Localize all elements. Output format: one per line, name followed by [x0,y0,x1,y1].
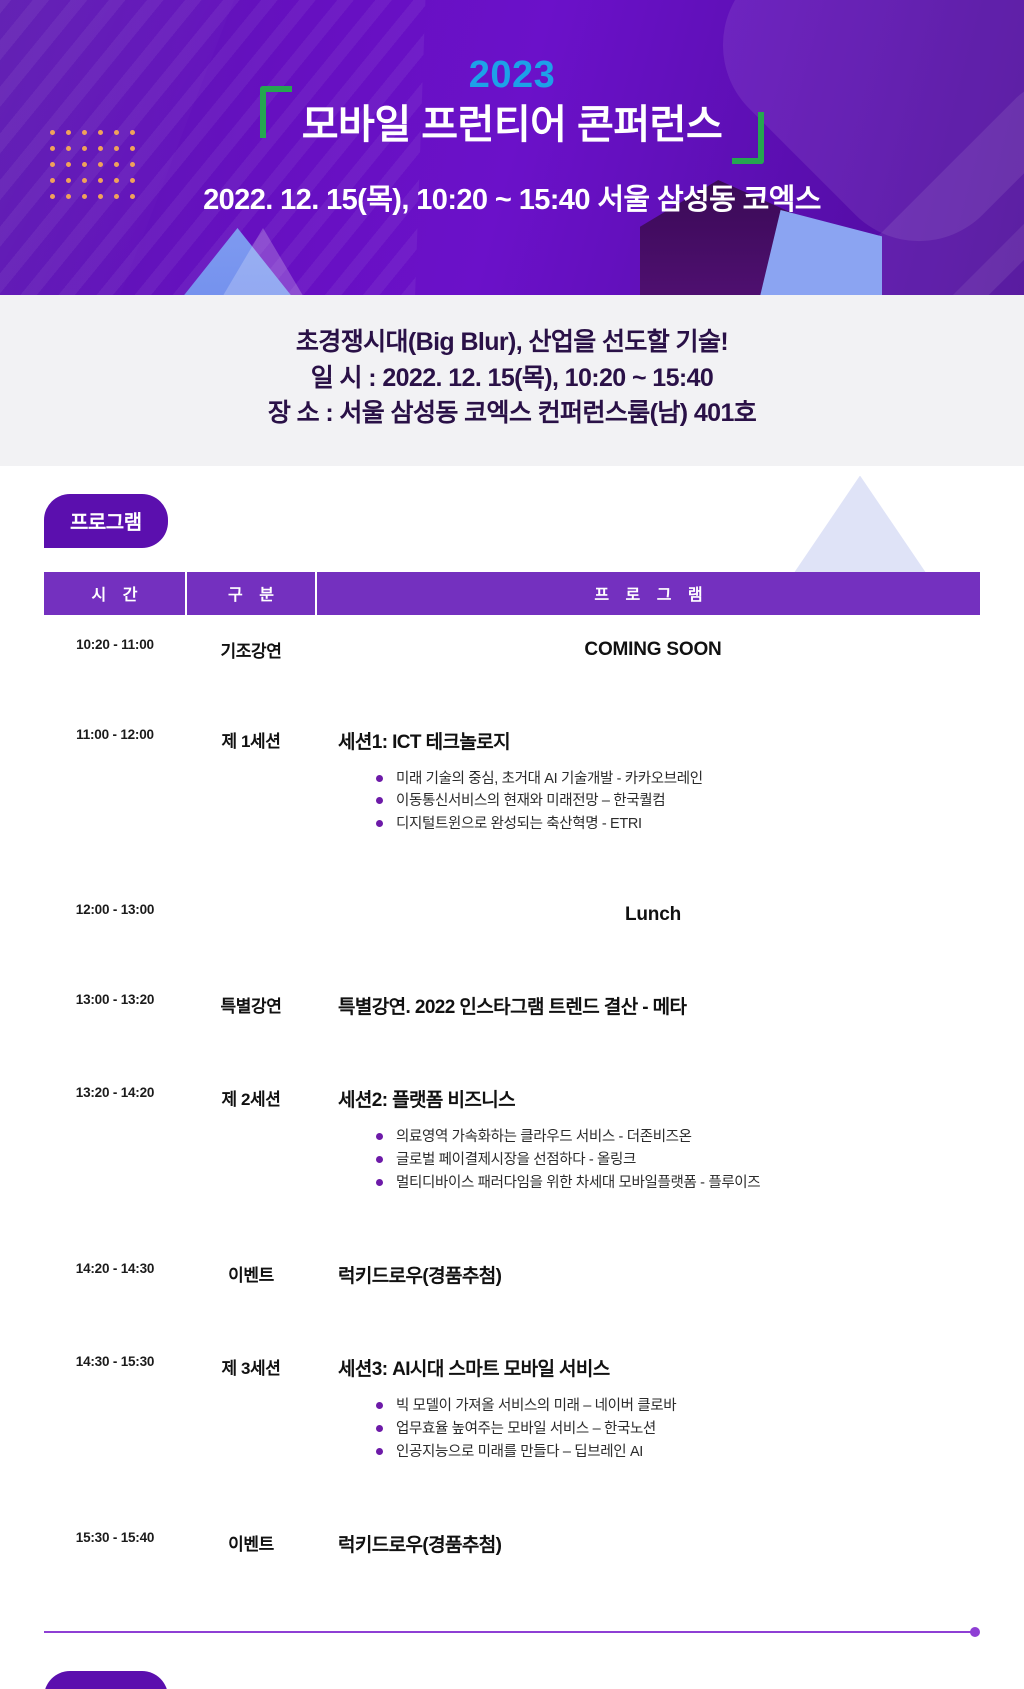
row-program-cell: 세션1: ICT 테크놀로지미래 기술의 중심, 초거대 AI 기술개발 - 카… [316,705,980,841]
register-badge: 사전등록 [44,1671,168,1689]
row-type [186,880,316,930]
bracket-left-icon [260,86,292,138]
row-program-cell: 세션3: AI시대 스마트 모바일 서비스빅 모델이 가져올 서비스의 미래 –… [316,1332,980,1468]
table-row: 14:30 - 15:30제 3세션세션3: AI시대 스마트 모바일 서비스빅… [44,1332,980,1468]
row-program-title: 특별강연. 2022 인스타그램 트렌드 결산 - 메타 [330,992,976,1019]
row-program-title: Lunch [330,902,976,926]
table-row: 10:20 - 11:00기조강연COMING SOON [44,615,980,665]
schedule-table-head: 시 간 구 분 프 로 그 램 [44,572,980,615]
row-spacer [44,1292,980,1332]
row-spacer [44,1561,980,1601]
schedule-header-row: 시 간 구 분 프 로 그 램 [44,572,980,615]
row-type: 이벤트 [186,1508,316,1561]
list-item: 인공지능으로 미래를 만들다 – 딥브레인 AI [376,1441,976,1464]
row-time: 12:00 - 13:00 [44,880,186,930]
row-program-title: 세션2: 플랫폼 비즈니스 [330,1085,976,1112]
list-item: 의료영역 가속화하는 클라우드 서비스 - 더존비즈온 [376,1126,976,1149]
row-time: 13:20 - 14:20 [44,1063,186,1199]
row-program-cell: COMING SOON [316,615,980,665]
row-time: 15:30 - 15:40 [44,1508,186,1561]
row-type: 기조강연 [186,615,316,665]
hero-title: 모바일 프런티어 콘퍼런스 [302,100,723,150]
schedule-table: 시 간 구 분 프 로 그 램 10:20 - 11:00기조강연COMING … [44,572,980,1601]
row-program-cell: 세션2: 플랫폼 비즈니스의료영역 가속화하는 클라우드 서비스 - 더존비즈온… [316,1063,980,1199]
divider-endpoint-dot [970,1627,980,1637]
row-spacer [44,840,980,880]
row-time: 14:20 - 14:30 [44,1239,186,1292]
table-row: 14:20 - 14:30이벤트럭키드로우(경품추첨) [44,1239,980,1292]
row-type: 제 2세션 [186,1063,316,1199]
row-type: 이벤트 [186,1239,316,1292]
row-spacer [44,930,980,970]
event-info-band: 초경쟁시대(Big Blur), 산업을 선도할 기술! 일 시 : 2022.… [0,295,1024,466]
row-type: 특별강연 [186,970,316,1023]
row-program-cell: 특별강연. 2022 인스타그램 트렌드 결산 - 메타 [316,970,980,1023]
program-badge: 프로그램 [44,494,168,548]
row-type: 제 1세션 [186,705,316,841]
conference-poster: 2023 모바일 프런티어 콘퍼런스 2022. 12. 15(목), 10:2… [0,0,1024,1689]
row-program-title: 럭키드로우(경품추첨) [330,1261,976,1288]
hero-banner: 2023 모바일 프런티어 콘퍼런스 2022. 12. 15(목), 10:2… [0,0,1024,295]
program-badge-row: 프로그램 [44,494,980,548]
schedule-table-body: 10:20 - 11:00기조강연COMING SOON11:00 - 12:0… [44,615,980,1601]
table-row: 12:00 - 13:00Lunch [44,880,980,930]
table-row: 11:00 - 12:00제 1세션세션1: ICT 테크놀로지미래 기술의 중… [44,705,980,841]
row-time: 13:00 - 13:20 [44,970,186,1023]
list-item: 글로벌 페이결제시장을 선점하다 - 올링크 [376,1149,976,1172]
info-line-3: 장 소 : 서울 삼성동 코엑스 컨퍼런스룸(남) 401호 [0,396,1024,432]
row-program-cell: Lunch [316,880,980,930]
column-header-time: 시 간 [44,572,186,615]
table-row: 13:00 - 13:20특별강연특별강연. 2022 인스타그램 트렌드 결산… [44,970,980,1023]
row-program-title: 세션3: AI시대 스마트 모바일 서비스 [330,1354,976,1381]
list-item: 디지털트윈으로 완성되는 축산혁명 - ETRI [376,813,976,836]
row-type: 제 3세션 [186,1332,316,1468]
row-program-cell: 럭키드로우(경품추첨) [316,1508,980,1561]
row-program-title: 럭키드로우(경품추첨) [330,1530,976,1557]
register-badge-row: 사전등록 [44,1671,980,1689]
list-item: 업무효율 높여주는 모바일 서비스 – 한국노션 [376,1418,976,1441]
register-section: 사전등록 [0,1637,1024,1689]
hero-title-wrap: 모바일 프런티어 콘퍼런스 [256,100,769,150]
list-item: 이동통신서비스의 현재와 미래전망 – 한국퀄컴 [376,790,976,813]
program-divider [44,1627,980,1637]
program-section: 프로그램 시 간 구 분 프 로 그 램 10:20 - 11:00기조강연CO… [0,466,1024,1601]
column-header-type: 구 분 [186,572,316,615]
table-row: 13:20 - 14:20제 2세션세션2: 플랫폼 비즈니스의료영역 가속화하… [44,1063,980,1199]
row-program-title: 세션1: ICT 테크놀로지 [330,727,976,754]
list-item: 미래 기술의 중심, 초거대 AI 기술개발 - 카카오브레인 [376,768,976,791]
row-bullet-list: 의료영역 가속화하는 클라우드 서비스 - 더존비즈온글로벌 페이결제시장을 선… [330,1126,976,1195]
row-spacer [44,1199,980,1239]
row-spacer [44,665,980,705]
row-bullet-list: 미래 기술의 중심, 초거대 AI 기술개발 - 카카오브레인이동통신서비스의 … [330,768,976,837]
row-time: 10:20 - 11:00 [44,615,186,665]
row-bullet-list: 빅 모델이 가져올 서비스의 미래 – 네이버 클로바업무효율 높여주는 모바일… [330,1395,976,1464]
info-line-1: 초경쟁시대(Big Blur), 산업을 선도할 기술! [0,325,1024,361]
bracket-right-icon [732,112,764,164]
row-spacer [44,1468,980,1508]
row-time: 11:00 - 12:00 [44,705,186,841]
row-time: 14:30 - 15:30 [44,1332,186,1468]
row-program-cell: 럭키드로우(경품추첨) [316,1239,980,1292]
row-spacer [44,1023,980,1063]
info-line-2: 일 시 : 2022. 12. 15(목), 10:20 ~ 15:40 [0,361,1024,397]
table-row: 15:30 - 15:40이벤트럭키드로우(경품추첨) [44,1508,980,1561]
hero-subtitle: 2022. 12. 15(목), 10:20 ~ 15:40 서울 삼성동 코엑… [0,176,1024,218]
list-item: 빅 모델이 가져올 서비스의 미래 – 네이버 클로바 [376,1395,976,1418]
column-header-program: 프 로 그 램 [316,572,980,615]
row-program-title: COMING SOON [330,637,976,661]
list-item: 멀티디바이스 패러다임을 위한 차세대 모바일플랫폼 - 플루이즈 [376,1172,976,1195]
hero-year: 2023 [0,56,1024,94]
divider-line [44,1631,972,1633]
